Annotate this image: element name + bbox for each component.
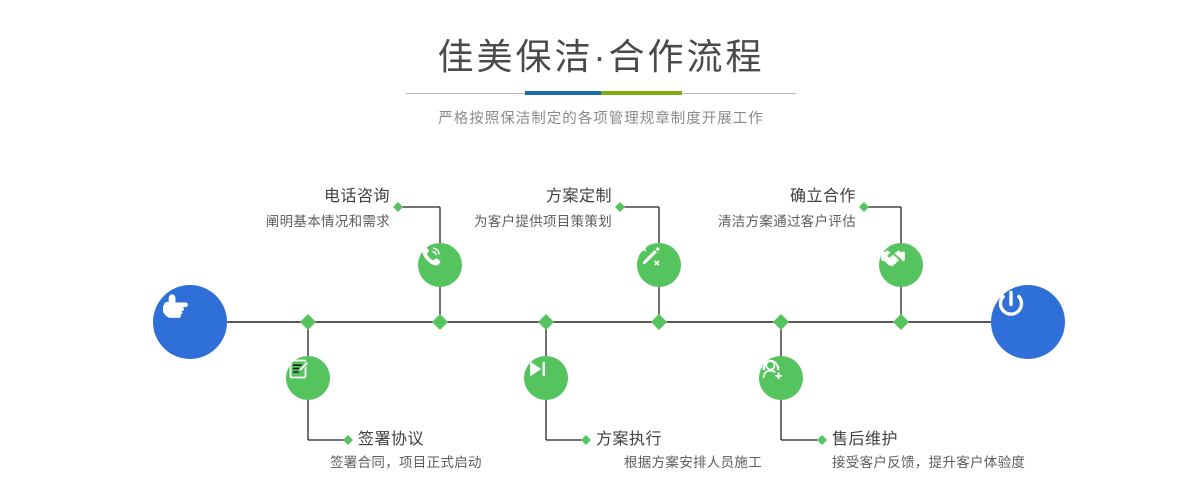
end-endpoint[interactable] bbox=[991, 285, 1065, 359]
step-1-desc: 阐明基本情况和需求 bbox=[266, 212, 390, 232]
axis-marker-3 bbox=[538, 314, 554, 330]
step-2-desc: 签署合同，项目正式启动 bbox=[330, 453, 482, 473]
axis-marker-6 bbox=[893, 314, 909, 330]
label-marker-5 bbox=[859, 202, 869, 212]
step-2-label: 签署协议 bbox=[358, 429, 424, 451]
axis-marker-1 bbox=[300, 314, 316, 330]
label-marker-4 bbox=[581, 435, 591, 445]
label-marker-1 bbox=[393, 202, 403, 212]
step-3-desc: 为客户提供项目策策划 bbox=[474, 212, 612, 232]
step-6-icon-node[interactable] bbox=[759, 356, 803, 400]
label-markers bbox=[343, 202, 869, 445]
step-6-desc: 接受客户反馈，提升客户体验度 bbox=[832, 453, 1025, 473]
step-6-label: 售后维护 bbox=[832, 429, 898, 451]
axis-marker-5 bbox=[773, 314, 789, 330]
step-3-label: 方案定制 bbox=[546, 186, 612, 208]
label-marker-2 bbox=[343, 435, 353, 445]
start-endpoint[interactable] bbox=[153, 285, 227, 359]
step-1-icon-node[interactable] bbox=[418, 243, 462, 287]
step-4-desc: 根据方案安排人员施工 bbox=[624, 453, 762, 473]
step-5-desc: 清洁方案通过客户评估 bbox=[718, 212, 856, 232]
step-3-icon-node[interactable] bbox=[637, 243, 681, 287]
step-1-label: 电话咨询 bbox=[324, 186, 390, 208]
axis-marker-2 bbox=[432, 314, 448, 330]
step-5-label: 确立合作 bbox=[790, 186, 856, 208]
step-2-icon-node[interactable] bbox=[286, 356, 330, 400]
timeline-connectors bbox=[0, 0, 1202, 502]
label-marker-3 bbox=[615, 202, 625, 212]
step-5-icon-node[interactable] bbox=[879, 243, 923, 287]
label-marker-6 bbox=[817, 435, 827, 445]
axis-marker-4 bbox=[651, 314, 667, 330]
step-4-label: 方案执行 bbox=[596, 429, 662, 451]
process-timeline: 电话咨询 阐明基本情况和需求 签署协议 签署合同，项目正式启动 方案定制 为客户… bbox=[0, 0, 1202, 502]
step-4-icon-node[interactable] bbox=[524, 356, 568, 400]
